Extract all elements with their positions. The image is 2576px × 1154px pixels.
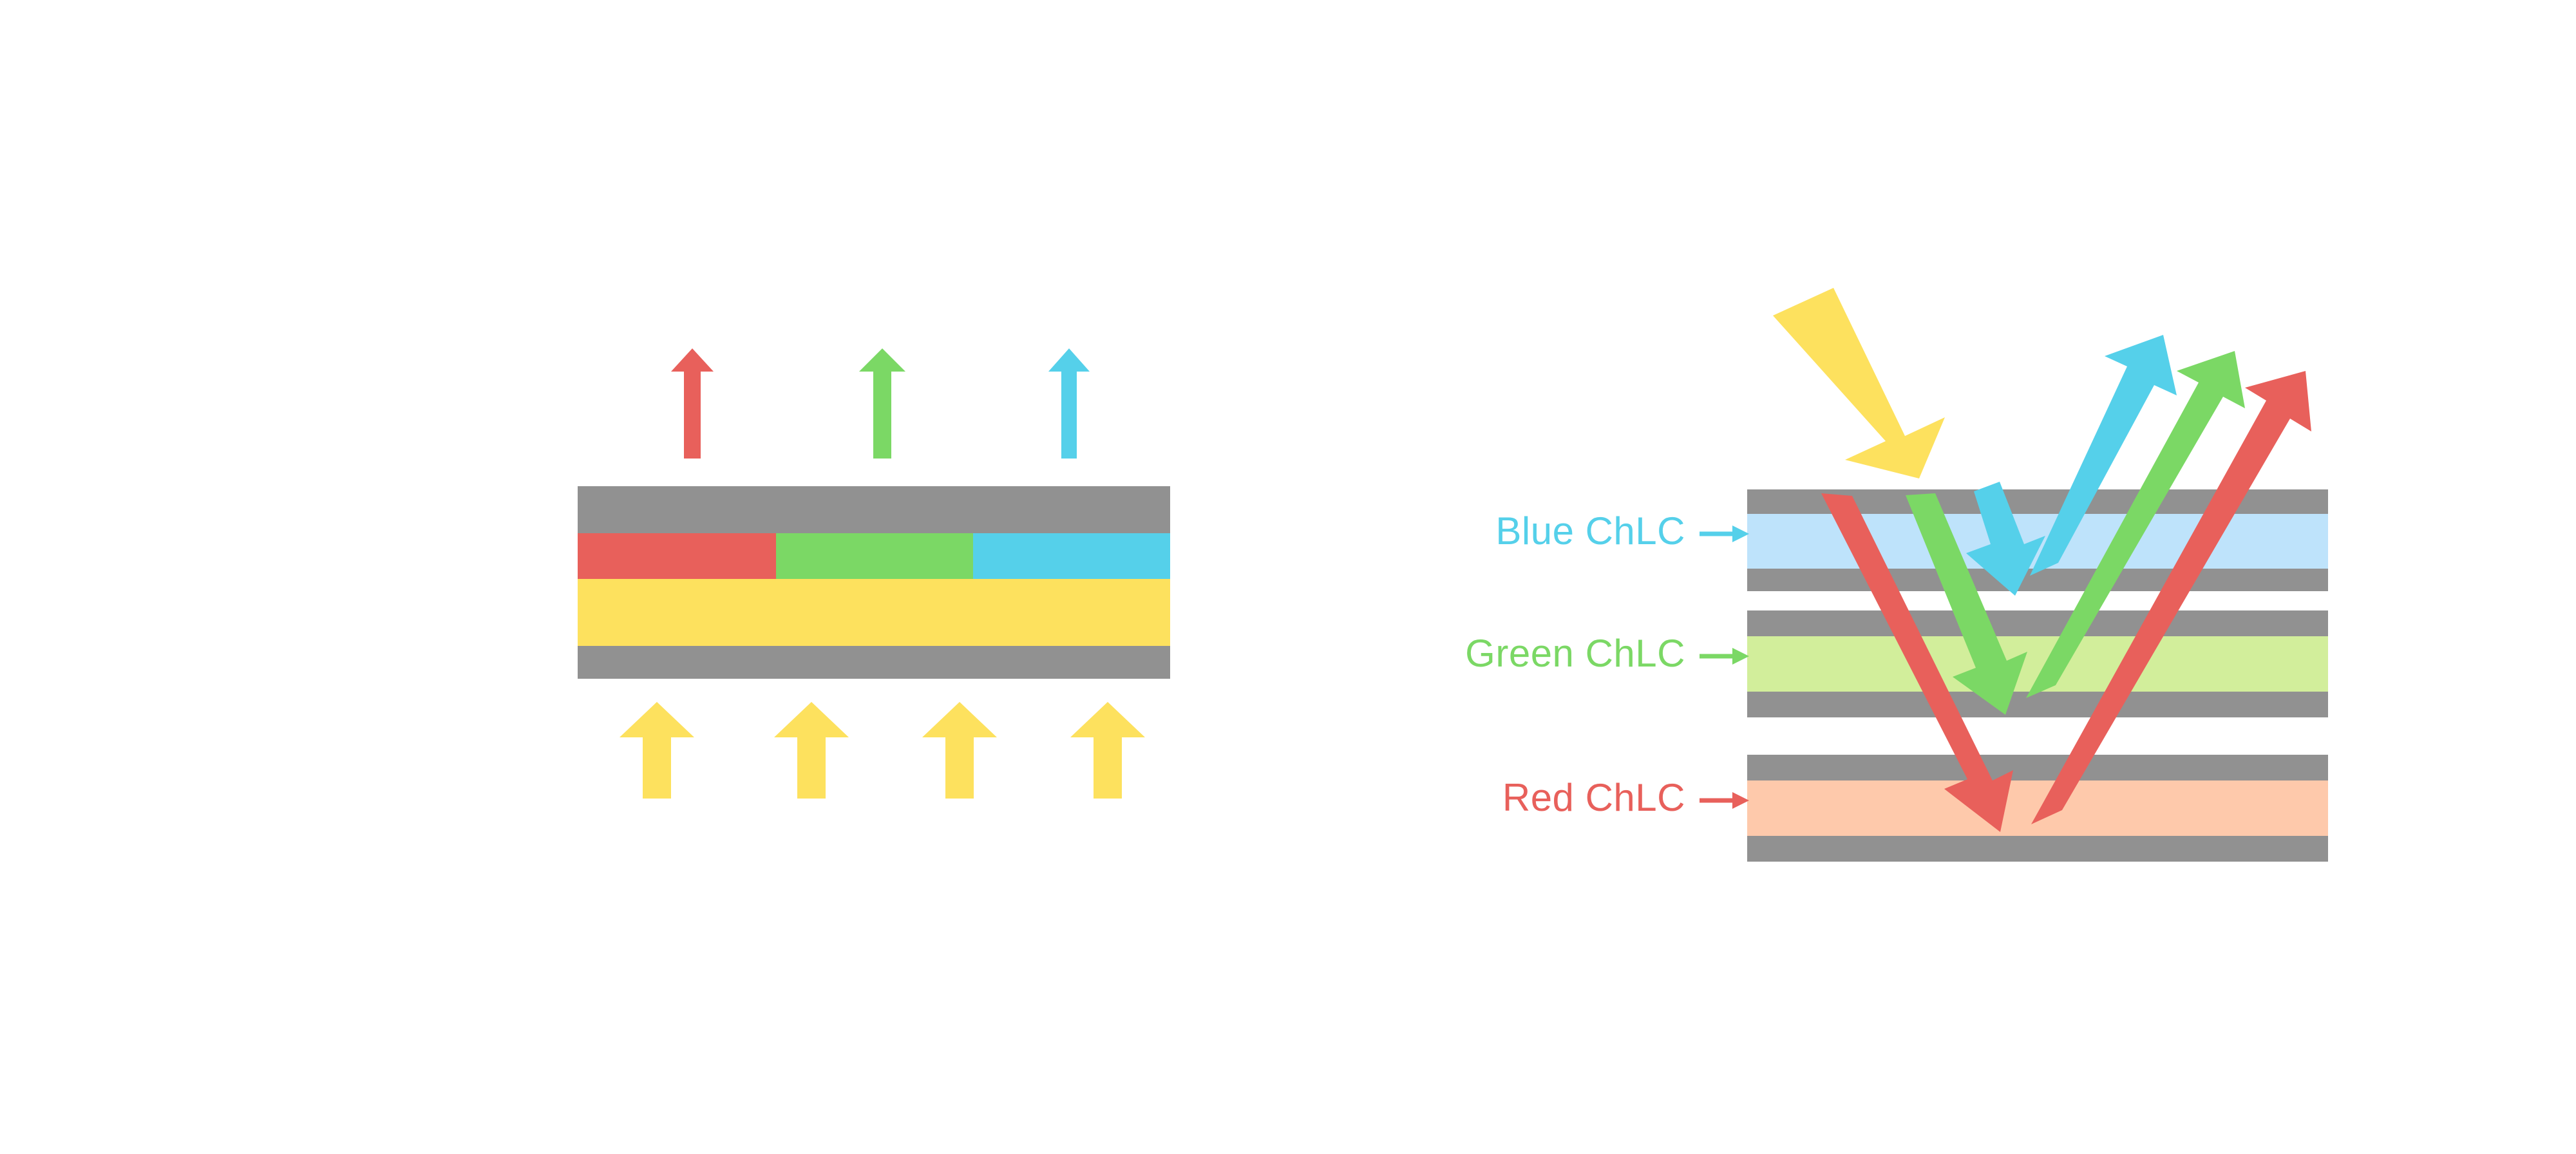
blue-subpixel	[973, 533, 1170, 579]
figure-root: Blue ChLC Green ChLC Red ChLC	[0, 0, 2576, 1154]
left-layer-stack	[578, 486, 1170, 679]
red-chlc-label: Red ChLC	[1502, 776, 1685, 819]
blue-chlc-label: Blue ChLC	[1495, 509, 1685, 553]
diagram-canvas: Blue ChLC Green ChLC Red ChLC	[0, 0, 2576, 1154]
green-chlc-label: Green ChLC	[1465, 632, 1685, 675]
left-bottom-electrode	[578, 646, 1170, 679]
red-cell-bottom-electrode	[1747, 836, 2328, 862]
red-subpixel	[578, 533, 776, 579]
red-cell-top-electrode	[1747, 755, 2328, 780]
green-cell-top-electrode	[1747, 610, 2328, 636]
green-chlc-cell	[1747, 610, 2328, 717]
green-cell-bottom-electrode	[1747, 692, 2328, 717]
left-top-electrode	[578, 486, 1170, 533]
green-subpixel	[776, 533, 973, 579]
backlight-layer	[578, 579, 1170, 646]
red-chlc-layer	[1747, 780, 2328, 836]
red-chlc-cell	[1747, 755, 2328, 862]
